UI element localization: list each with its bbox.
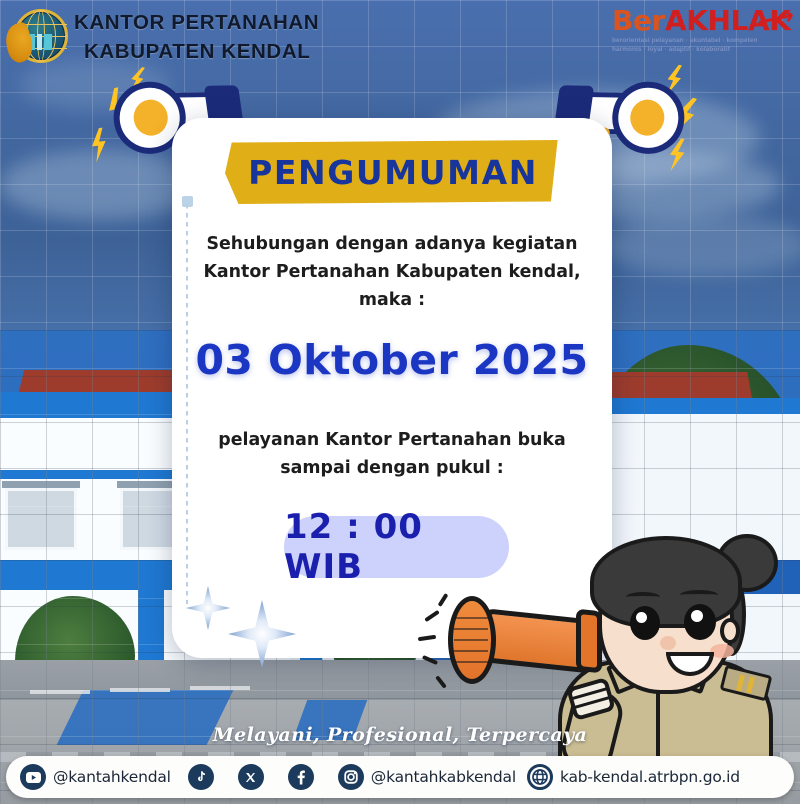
footer-item-facebook[interactable]	[288, 764, 321, 790]
facebook-icon[interactable]	[288, 764, 314, 790]
footer-item-tiktok[interactable]	[188, 764, 221, 790]
footer-label-instagram: @kantahkabkendal	[371, 768, 516, 786]
footer-label-website: kab-kendal.atrbpn.go.id	[560, 768, 740, 786]
footer-label-youtube: @kantahkendal	[53, 768, 171, 786]
footer-item-youtube[interactable]: @kantahkendal	[20, 764, 171, 790]
berakhlak-part1: Ber	[612, 4, 665, 37]
x-twitter-icon[interactable]	[238, 764, 264, 790]
officer-eyebrow-right	[680, 590, 718, 600]
dotted-divider	[186, 204, 188, 604]
page-title: KANTOR PERTANAHAN KABUPATEN KENDAL	[74, 8, 494, 66]
social-footer-bar: @kantahkendal	[6, 756, 794, 798]
announcement-poster: KANTOR PERTANAHAN KABUPATEN KENDAL BerAK…	[0, 0, 800, 804]
instagram-icon[interactable]	[338, 764, 364, 790]
title-line-1: KANTOR PERTANAHAN	[74, 8, 494, 37]
officer-ear	[720, 618, 740, 644]
youtube-icon[interactable]	[20, 764, 46, 790]
motto-tagline: Melayani, Profesional, Terpercaya	[0, 724, 800, 746]
berakhlak-logo: BerAKHLAK ⟶ berorientasi pelayanan · aku…	[612, 6, 792, 66]
announcement-date: 03 Oktober 2025	[172, 336, 612, 384]
announcement-paragraph-2: pelayanan Kantor Pertanahan buka sampai …	[192, 426, 592, 482]
building-glyph-icon	[30, 34, 52, 50]
globe-website-icon[interactable]	[527, 764, 553, 790]
announcement-paragraph-1: Sehubungan dengan adanya kegiatan Kantor…	[192, 230, 592, 314]
pengumuman-banner: PENGUMUMAN	[225, 140, 561, 204]
footer-item-website[interactable]: kab-kendal.atrbpn.go.id	[527, 764, 740, 790]
megaphone-rim	[576, 609, 602, 674]
tiktok-icon[interactable]	[188, 764, 214, 790]
officer-eye-right	[684, 604, 716, 640]
megaphone-cone-lines	[454, 608, 488, 672]
officer-nose	[660, 636, 676, 650]
berakhlak-subtitle-2: harmonis · loyal · adaptif · kolaboratif	[612, 46, 792, 54]
atr-bpn-logo-icon	[6, 6, 68, 68]
title-line-2: KABUPATEN KENDAL	[74, 37, 494, 66]
berakhlak-wordmark: BerAKHLAK ⟶	[612, 6, 792, 36]
banner-label: PENGUMUMAN	[248, 153, 538, 192]
eye-highlight	[691, 610, 703, 622]
footer-item-x[interactable]	[238, 764, 271, 790]
orange-megaphone-icon	[448, 592, 638, 688]
footer-item-instagram[interactable]: @kantahkabkendal	[338, 764, 516, 790]
berakhlak-subtitle-1: berorientasi pelayanan · akuntabel · kom…	[612, 37, 792, 45]
